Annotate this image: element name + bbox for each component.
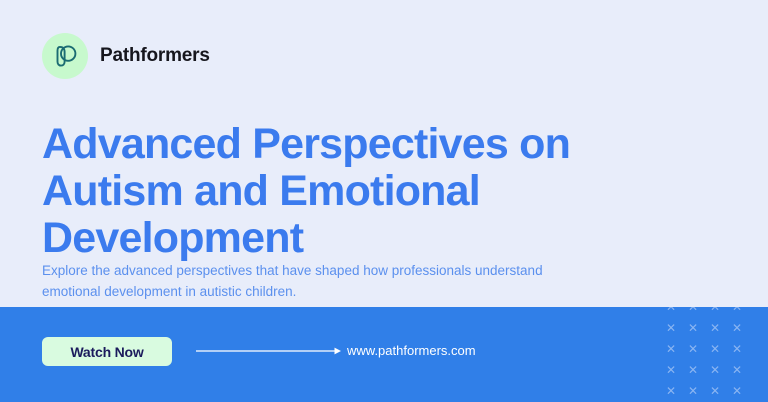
x-cross-icon: ✕ bbox=[660, 338, 682, 359]
headline-line-2: Autism and Emotional bbox=[42, 168, 642, 215]
brand-name: Pathformers bbox=[100, 45, 210, 67]
pathformers-p-monogram-icon bbox=[42, 33, 88, 79]
x-cross-icon: ✕ bbox=[682, 307, 704, 317]
x-cross-icon: ✕ bbox=[704, 317, 726, 338]
x-cross-icon: ✕ bbox=[660, 307, 682, 317]
x-cross-icon: ✕ bbox=[682, 338, 704, 359]
x-pattern-decoration: ✕ ✕ ✕ ✕ ✕ ✕ ✕ ✕ ✕ ✕ ✕ ✕ ✕ ✕ ✕ ✕ ✕ ✕ ✕ ✕ bbox=[660, 307, 748, 401]
subtitle-line-2: emotional development in autistic childr… bbox=[42, 281, 652, 302]
website-url[interactable]: www.pathformers.com bbox=[347, 343, 476, 358]
x-cross-icon: ✕ bbox=[660, 380, 682, 401]
x-cross-icon: ✕ bbox=[682, 359, 704, 380]
x-cross-icon: ✕ bbox=[726, 380, 748, 401]
x-cross-icon: ✕ bbox=[726, 307, 748, 317]
x-cross-icon: ✕ bbox=[660, 317, 682, 338]
x-cross-icon: ✕ bbox=[704, 380, 726, 401]
arrow-right-icon bbox=[196, 344, 342, 358]
x-cross-icon: ✕ bbox=[682, 317, 704, 338]
page-title: Advanced Perspectives on Autism and Emot… bbox=[42, 121, 642, 262]
headline-line-1: Advanced Perspectives on bbox=[42, 121, 642, 168]
x-cross-icon: ✕ bbox=[726, 338, 748, 359]
x-cross-icon: ✕ bbox=[704, 338, 726, 359]
x-cross-icon: ✕ bbox=[682, 380, 704, 401]
subtitle-line-1: Explore the advanced perspectives that h… bbox=[42, 260, 652, 281]
x-cross-icon: ✕ bbox=[726, 359, 748, 380]
promo-banner: Pathformers Advanced Perspectives on Aut… bbox=[0, 0, 768, 402]
x-cross-icon: ✕ bbox=[704, 359, 726, 380]
x-cross-icon: ✕ bbox=[726, 317, 748, 338]
headline-line-3: Development bbox=[42, 215, 642, 262]
brand-logo-row[interactable]: Pathformers bbox=[42, 33, 210, 79]
x-cross-icon: ✕ bbox=[660, 359, 682, 380]
x-cross-icon: ✕ bbox=[704, 307, 726, 317]
watch-now-button[interactable]: Watch Now bbox=[42, 337, 172, 366]
page-subtitle: Explore the advanced perspectives that h… bbox=[42, 260, 652, 302]
